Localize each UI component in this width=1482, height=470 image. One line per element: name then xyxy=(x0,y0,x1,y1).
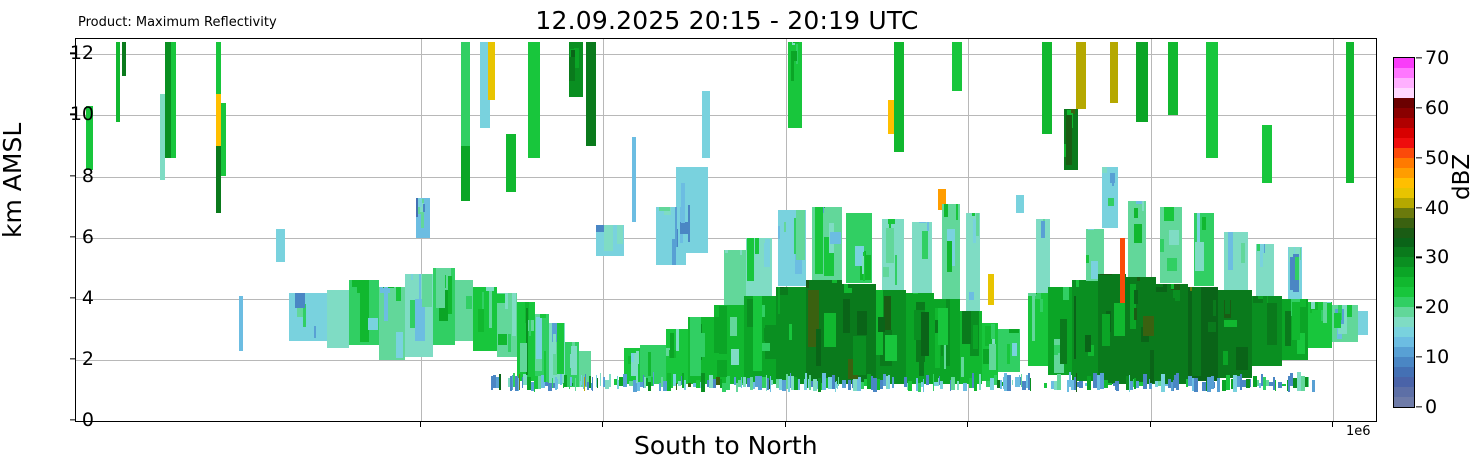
colorbar xyxy=(1393,57,1415,408)
x-axis-tick-mark xyxy=(420,422,421,427)
x-axis-offset-text: 1e6 xyxy=(1346,424,1371,439)
colorbar-tick-mark xyxy=(1416,207,1422,208)
y-axis-tick-mark xyxy=(70,297,75,298)
y-axis-tick-mark xyxy=(70,419,75,420)
x-axis-tick-mark xyxy=(1150,422,1151,427)
colorbar-tick-label: 60 xyxy=(1425,97,1449,119)
colorbar-tick-label: 10 xyxy=(1425,346,1449,368)
colorbar-tick-label: 30 xyxy=(1425,246,1449,268)
gridline-horizontal xyxy=(76,421,1376,422)
y-axis-tick-label: 4 xyxy=(82,287,94,309)
colorbar-tick-mark xyxy=(1416,157,1422,158)
y-axis-tick-mark xyxy=(70,175,75,176)
y-axis-tick-label: 8 xyxy=(82,165,94,187)
colorbar-tick-label: 20 xyxy=(1425,296,1449,318)
y-axis-tick-label: 6 xyxy=(82,226,94,248)
colorbar-tick-label: 40 xyxy=(1425,197,1449,219)
colorbar-tick-label: 0 xyxy=(1425,396,1437,418)
colorbar-tick-mark xyxy=(1416,57,1422,58)
colorbar-tick-mark xyxy=(1416,406,1422,407)
x-axis-label: South to North xyxy=(634,431,818,460)
y-axis-tick-label: 2 xyxy=(82,348,94,370)
x-axis-tick-mark xyxy=(602,422,603,427)
plot-area xyxy=(75,38,1377,422)
y-axis-tick-mark xyxy=(70,236,75,237)
x-axis-tick-mark xyxy=(967,422,968,427)
page-title: 12.09.2025 20:15 - 20:19 UTC xyxy=(497,6,957,35)
reflectivity-pixel-mesh xyxy=(76,39,1376,421)
colorbar-tick-mark xyxy=(1416,307,1422,308)
y-axis-label: km AMSL xyxy=(0,123,27,238)
radar-cross-section-figure: 12.09.2025 20:15 - 20:19 UTC Product: Ma… xyxy=(0,0,1482,470)
colorbar-tick-mark xyxy=(1416,257,1422,258)
colorbar-tick-label: 50 xyxy=(1425,147,1449,169)
y-axis-tick-label: 0 xyxy=(82,409,94,431)
colorbar-tick-mark xyxy=(1416,107,1422,108)
colorbar-label: dBZ xyxy=(1449,154,1475,200)
x-axis-tick-mark xyxy=(1332,422,1333,427)
x-axis-tick-mark xyxy=(785,422,786,427)
y-axis-tick-mark xyxy=(70,53,75,54)
product-label: Product: Maximum Reflectivity xyxy=(78,15,277,30)
y-axis-tick-mark xyxy=(70,358,75,359)
y-axis-tick-mark xyxy=(70,114,75,115)
colorbar-tick-label: 70 xyxy=(1425,47,1449,69)
colorbar-tick-mark xyxy=(1416,356,1422,357)
